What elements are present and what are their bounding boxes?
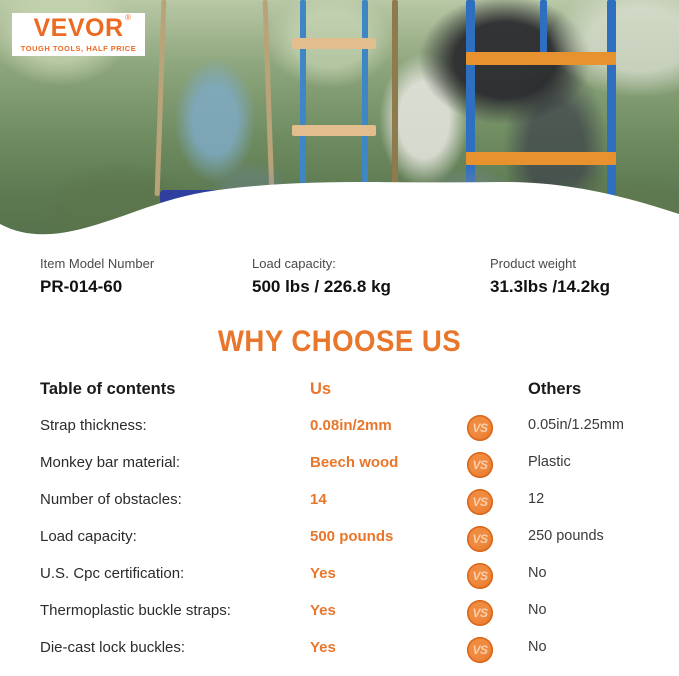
row-value-us: Yes xyxy=(310,565,336,582)
row-value-others: No xyxy=(528,602,547,618)
table-row: Thermoplastic buckle straps: Yes VS No xyxy=(0,602,679,639)
vs-badge-label: VS xyxy=(472,644,487,656)
vs-badge-label: VS xyxy=(472,570,487,582)
frame-rung xyxy=(466,152,616,165)
frame-rung xyxy=(466,52,616,65)
column-header-others: Others xyxy=(528,380,581,399)
vs-badge-icon: VS xyxy=(467,489,493,515)
row-value-us: 500 pounds xyxy=(310,528,393,545)
row-label: Monkey bar material: xyxy=(40,454,180,471)
row-label: Strap thickness: xyxy=(40,417,147,434)
row-label: Number of obstacles: xyxy=(40,491,182,508)
column-header-us: Us xyxy=(310,380,331,399)
registered-trademark-icon: ® xyxy=(125,14,131,22)
row-value-others: 250 pounds xyxy=(528,528,604,544)
row-value-others: No xyxy=(528,639,547,655)
vs-badge-icon: VS xyxy=(467,637,493,663)
spec-label: Product weight xyxy=(490,256,610,272)
row-value-others: Plastic xyxy=(528,454,571,470)
row-label: Die-cast lock buckles: xyxy=(40,639,185,656)
row-value-us: 0.08in/2mm xyxy=(310,417,392,434)
row-value-others: 12 xyxy=(528,491,544,507)
logo-word-text: VEVOR xyxy=(33,14,123,42)
swing-rope xyxy=(263,0,275,196)
wave-divider xyxy=(0,170,679,248)
spec-item-model: Item Model Number PR-014-60 xyxy=(40,256,154,298)
spec-value: 31.3lbs /14.2kg xyxy=(490,276,610,298)
vs-badge-icon: VS xyxy=(467,526,493,552)
spec-item-load-capacity: Load capacity: 500 lbs / 226.8 kg xyxy=(252,256,391,298)
comparison-table: Table of contents Us Others Strap thickn… xyxy=(0,380,679,676)
vs-badge-label: VS xyxy=(472,607,487,619)
swing-rope xyxy=(155,0,167,196)
table-row: Monkey bar material: Beech wood VS Plast… xyxy=(0,454,679,491)
row-label: Thermoplastic buckle straps: xyxy=(40,602,231,619)
logo-wordmark: VEVOR® xyxy=(33,16,123,41)
spec-value: 500 lbs / 226.8 kg xyxy=(252,276,391,298)
hero-banner: VEVOR® TOUGH TOOLS, HALF PRICE xyxy=(0,0,679,248)
vs-badge-icon: VS xyxy=(467,415,493,441)
row-value-us: Yes xyxy=(310,639,336,656)
frame-pole xyxy=(540,0,547,60)
product-infographic: VEVOR® TOUGH TOOLS, HALF PRICE Item Mode… xyxy=(0,0,679,670)
row-label: U.S. Cpc certification: xyxy=(40,565,184,582)
ladder-step xyxy=(292,38,376,49)
ladder-step xyxy=(292,125,376,136)
section-title-why-choose-us: WHY CHOOSE US xyxy=(27,325,652,359)
table-row: Load capacity: 500 pounds VS 250 pounds xyxy=(0,528,679,565)
spec-label: Load capacity: xyxy=(252,256,391,272)
row-value-us: 14 xyxy=(310,491,327,508)
row-value-others: No xyxy=(528,565,547,581)
table-row: Strap thickness: 0.08in/2mm VS 0.05in/1.… xyxy=(0,417,679,454)
vs-badge-label: VS xyxy=(472,459,487,471)
column-header-item: Table of contents xyxy=(40,380,175,399)
vs-badge-icon: VS xyxy=(467,563,493,589)
vs-badge-label: VS xyxy=(472,422,487,434)
vevor-logo: VEVOR® TOUGH TOOLS, HALF PRICE xyxy=(12,13,145,56)
table-row: Number of obstacles: 14 VS 12 xyxy=(0,491,679,528)
table-row: Die-cast lock buckles: Yes VS No xyxy=(0,639,679,676)
vs-badge-label: VS xyxy=(472,496,487,508)
table-row: U.S. Cpc certification: Yes VS No xyxy=(0,565,679,602)
logo-tagline: TOUGH TOOLS, HALF PRICE xyxy=(21,44,136,53)
spec-summary: Item Model Number PR-014-60 Load capacit… xyxy=(0,256,679,314)
vs-badge-icon: VS xyxy=(467,452,493,478)
row-value-us: Yes xyxy=(310,602,336,619)
table-header-row: Table of contents Us Others xyxy=(0,380,679,417)
spec-item-product-weight: Product weight 31.3lbs /14.2kg xyxy=(490,256,610,298)
vs-badge-label: VS xyxy=(472,533,487,545)
spec-value: PR-014-60 xyxy=(40,276,154,298)
row-value-us: Beech wood xyxy=(310,454,398,471)
row-label: Load capacity: xyxy=(40,528,137,545)
row-value-others: 0.05in/1.25mm xyxy=(528,417,624,433)
spec-label: Item Model Number xyxy=(40,256,154,272)
vs-badge-icon: VS xyxy=(467,600,493,626)
